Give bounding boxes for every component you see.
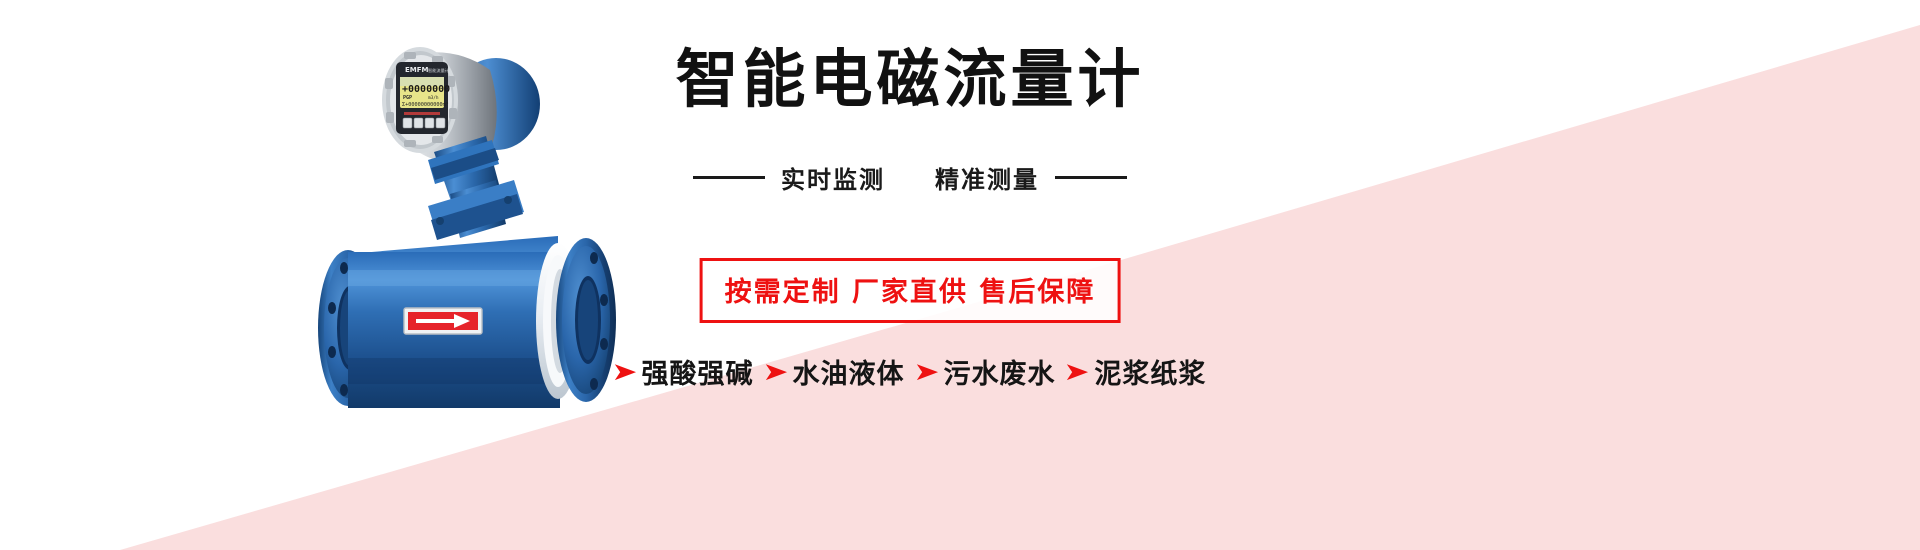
feature-item-1: ➤ 水油液体 [765, 352, 905, 391]
cta-badge[interactable]: 按需定制 厂家直供 售后保障 [700, 258, 1121, 323]
feature-label: 污水废水 [943, 352, 1055, 391]
svg-text:m3/h: m3/h [428, 95, 439, 101]
arrow-right-icon: ➤ [913, 359, 939, 384]
feature-item-2: ➤ 污水废水 [916, 352, 1056, 391]
flowmeter-body [348, 236, 560, 408]
feature-label: 水油液体 [793, 352, 905, 391]
divider-right [1055, 176, 1127, 179]
arrow-right-icon: ➤ [762, 359, 788, 384]
cta-label: 按需定制 厂家直供 售后保障 [725, 277, 1096, 308]
banner-text-content: 智能电磁流量计 实时监测 精准测量 按需定制 厂家直供 售后保障 ➤ 强酸强碱 … [600, 0, 1220, 550]
svg-text:PGP: PGP [403, 95, 412, 101]
svg-text:+0000000: +0000000 [402, 84, 450, 95]
divider-left [693, 176, 765, 179]
feature-label: 强酸强碱 [642, 352, 754, 391]
subtitle-right: 精准测量 [935, 160, 1039, 195]
svg-text:Σ+00000000000m³: Σ+00000000000m³ [402, 102, 449, 108]
page-title: 智能电磁流量计 [600, 48, 1220, 111]
product-banner: EMFM 智能流量计 +0000000 PGP m3/h Σ+000000000… [0, 0, 1920, 550]
subtitle-row: 实时监测 精准测量 [600, 160, 1220, 195]
arrow-right-icon: ➤ [611, 359, 637, 384]
svg-text:EMFM: EMFM [405, 66, 429, 74]
svg-text:智能流量计: 智能流量计 [428, 67, 449, 74]
feature-list: ➤ 强酸强碱 ➤ 水油液体 ➤ 污水废水 ➤ 泥浆纸浆 [590, 352, 1230, 391]
feature-label: 泥浆纸浆 [1094, 352, 1206, 391]
feature-item-3: ➤ 泥浆纸浆 [1066, 352, 1206, 391]
feature-item-0: ➤ 强酸强碱 [614, 352, 754, 391]
arrow-right-icon: ➤ [1064, 359, 1090, 384]
subtitle-left: 实时监测 [781, 160, 885, 195]
